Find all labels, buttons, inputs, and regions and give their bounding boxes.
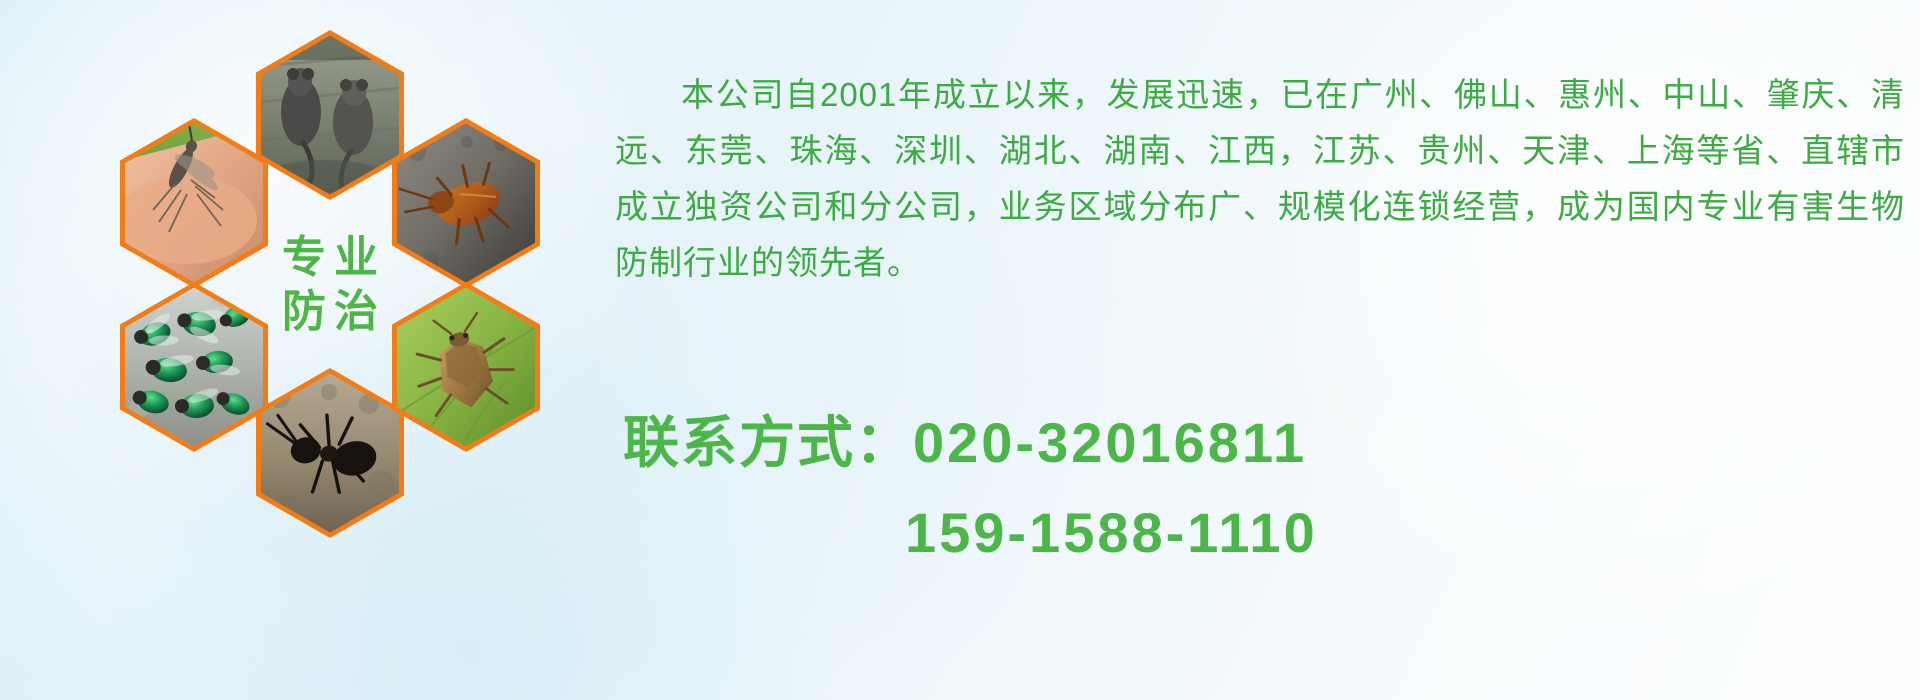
phone-secondary[interactable]: 159-1588-1110 (905, 501, 1318, 564)
hex-cell-ant[interactable] (256, 368, 404, 538)
contact-line-primary: 联系方式：020-32016811 (615, 398, 1905, 488)
ant-photo-icon (261, 374, 399, 533)
hexagon-photo-collage: 专业 防治 (90, 10, 590, 570)
contact-label: 联系方式： (623, 411, 913, 474)
collage-center-label: 专业 防治 (256, 200, 404, 370)
hex-cell-mosquito[interactable] (120, 118, 268, 288)
hex-cell-rats[interactable] (256, 30, 404, 200)
intro-paragraph: 本公司自2001年成立以来，发展迅速，已在广州、佛山、惠州、中山、肇庆、清远、东… (615, 67, 1905, 291)
phone-primary[interactable]: 020-32016811 (913, 411, 1307, 474)
mosquito-photo-icon (125, 124, 263, 283)
contact-line-secondary: 159-1588-1110 (615, 488, 1905, 578)
cockroach-photo-icon (397, 124, 535, 283)
hex-cell-flies[interactable] (120, 282, 268, 452)
collage-label-line2: 防治 (274, 290, 386, 334)
contact-block: 联系方式：020-32016811 159-1588-1110 (615, 398, 1905, 578)
rats-photo-icon (261, 36, 399, 195)
promo-banner: 专业 防治 本公司自2001年成立以来，发展迅速，已在广州、佛山、惠州、中山、肇… (0, 0, 1920, 700)
hex-cell-cockroach[interactable] (392, 118, 540, 288)
hex-cell-stinkbug[interactable] (392, 282, 540, 452)
collage-label-line1: 专业 (274, 236, 386, 280)
flies-photo-icon (125, 288, 263, 447)
copy-column: 本公司自2001年成立以来，发展迅速，已在广州、佛山、惠州、中山、肇庆、清远、东… (615, 34, 1905, 324)
stinkbug-photo-icon (397, 288, 535, 447)
